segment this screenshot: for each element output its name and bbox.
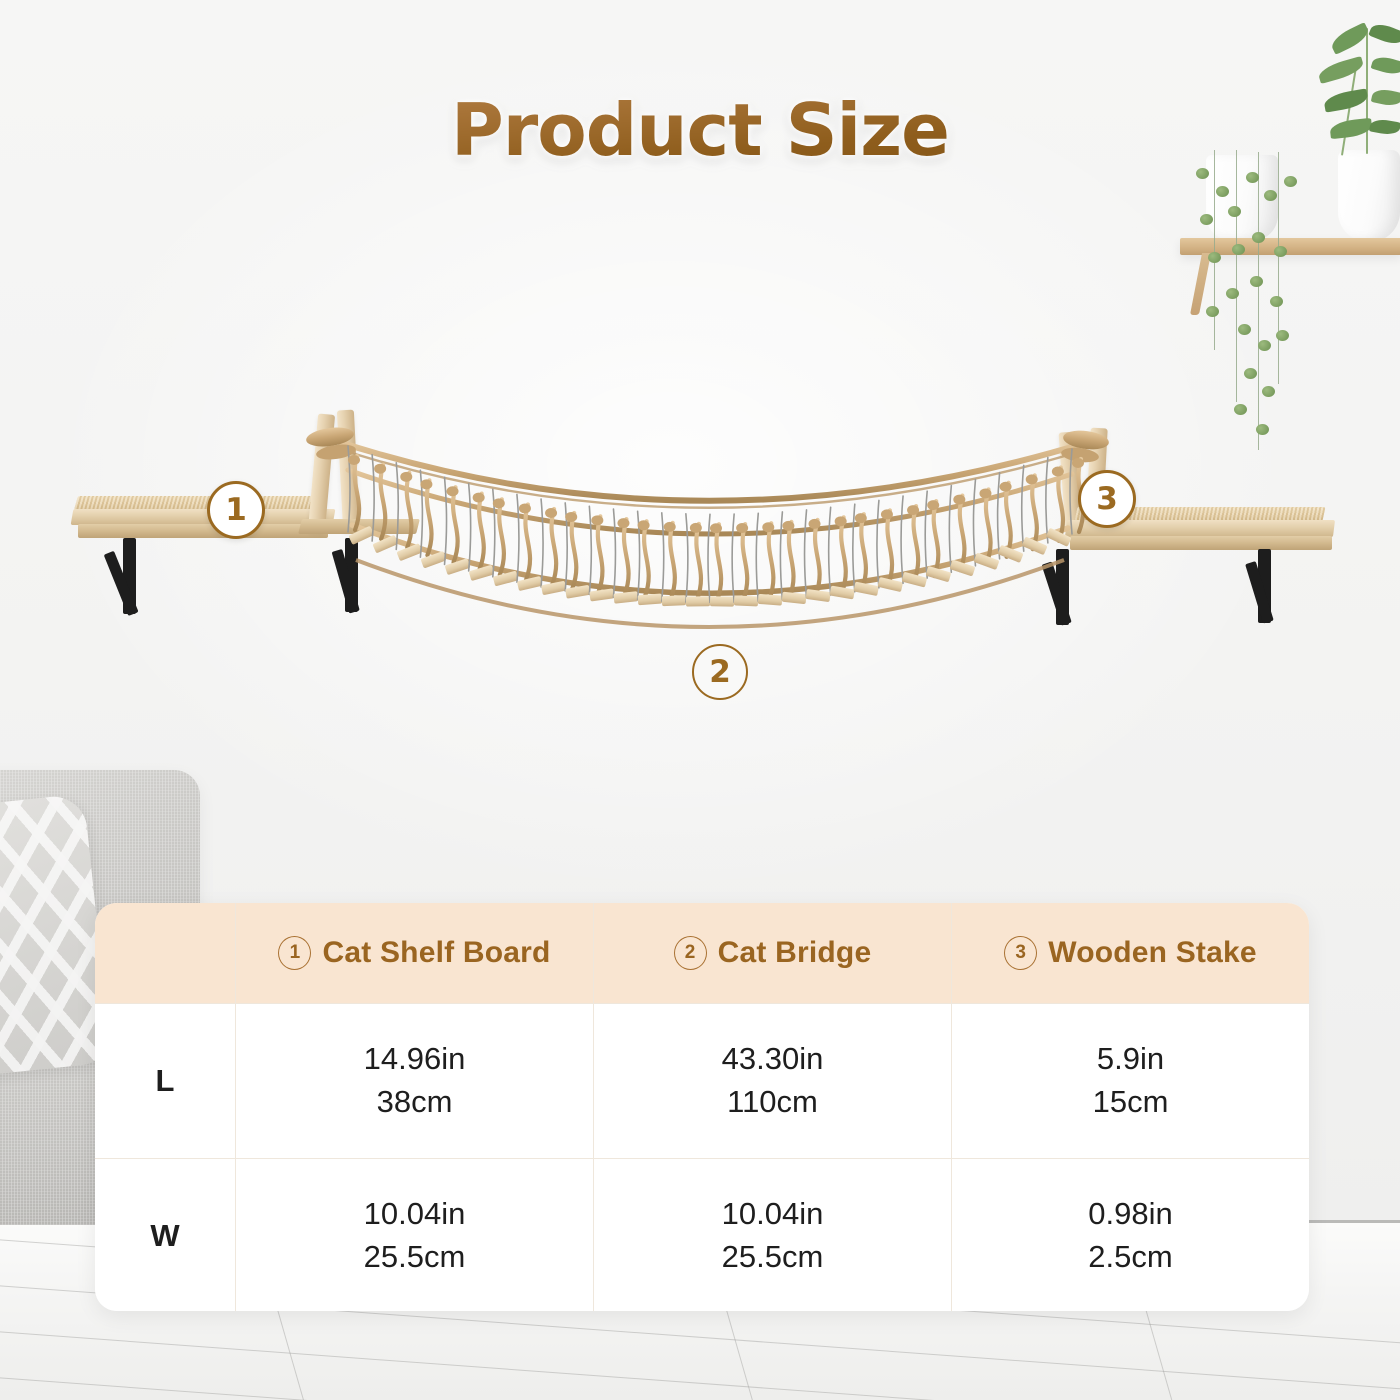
header-number-icon: 3 bbox=[1004, 936, 1037, 970]
value-inch: 10.04in bbox=[722, 1193, 824, 1236]
value-inch: 0.98in bbox=[1088, 1193, 1172, 1236]
cell-width-cat-bridge: 10.04in 25.5cm bbox=[594, 1159, 952, 1311]
callout-marker-1[interactable]: 1 bbox=[207, 481, 265, 539]
cell-length-cat-shelf-board: 14.96in 38cm bbox=[236, 1004, 594, 1158]
row-label-cell: L bbox=[95, 1004, 236, 1158]
value-cm: 25.5cm bbox=[722, 1236, 824, 1279]
cell-length-wooden-stake: 5.9in 15cm bbox=[952, 1004, 1309, 1158]
value-inch: 5.9in bbox=[1097, 1038, 1164, 1081]
callout-marker-3[interactable]: 3 bbox=[1078, 470, 1136, 528]
header-corner-cell bbox=[95, 903, 236, 1003]
table-header-row: 1 Cat Shelf Board 2 Cat Bridge 3 Wooden … bbox=[95, 903, 1309, 1003]
header-label: Cat Shelf Board bbox=[322, 936, 550, 970]
cell-length-cat-bridge: 43.30in 110cm bbox=[594, 1004, 952, 1158]
floor-plank-line bbox=[0, 1327, 1400, 1400]
callout-marker-2[interactable]: 2 bbox=[692, 644, 748, 700]
header-number-icon: 1 bbox=[278, 936, 311, 970]
cell-width-wooden-stake: 0.98in 2.5cm bbox=[952, 1159, 1309, 1311]
spec-table: 1 Cat Shelf Board 2 Cat Bridge 3 Wooden … bbox=[95, 903, 1309, 1311]
value-inch: 14.96in bbox=[364, 1038, 466, 1081]
header-cell-wooden-stake: 3 Wooden Stake bbox=[952, 903, 1309, 1003]
header-number-icon: 2 bbox=[674, 936, 707, 970]
value-cm: 110cm bbox=[727, 1081, 818, 1124]
header-label: Cat Bridge bbox=[718, 936, 872, 970]
row-label: W bbox=[150, 1218, 179, 1254]
header-cell-cat-bridge: 2 Cat Bridge bbox=[594, 903, 952, 1003]
value-cm: 15cm bbox=[1093, 1081, 1169, 1124]
page-title: Product Size bbox=[0, 88, 1400, 172]
row-label-cell: W bbox=[95, 1159, 236, 1311]
table-row-length: L 14.96in 38cm 43.30in 110cm 5.9in 15cm bbox=[95, 1003, 1309, 1158]
value-cm: 2.5cm bbox=[1088, 1236, 1172, 1279]
row-label: L bbox=[156, 1063, 175, 1099]
table-row-width: W 10.04in 25.5cm 10.04in 25.5cm 0.98in 2… bbox=[95, 1158, 1309, 1311]
value-cm: 38cm bbox=[377, 1081, 453, 1124]
value-cm: 25.5cm bbox=[364, 1236, 466, 1279]
header-cell-cat-shelf-board: 1 Cat Shelf Board bbox=[236, 903, 594, 1003]
product-size-infographic: 1 2 3 Product Size 1 Cat Shelf Board 2 C… bbox=[0, 0, 1400, 1400]
header-label: Wooden Stake bbox=[1048, 936, 1257, 970]
value-inch: 43.30in bbox=[722, 1038, 824, 1081]
cell-width-cat-shelf-board: 10.04in 25.5cm bbox=[236, 1159, 594, 1311]
value-inch: 10.04in bbox=[364, 1193, 466, 1236]
floor-plank-line bbox=[0, 1373, 1400, 1400]
